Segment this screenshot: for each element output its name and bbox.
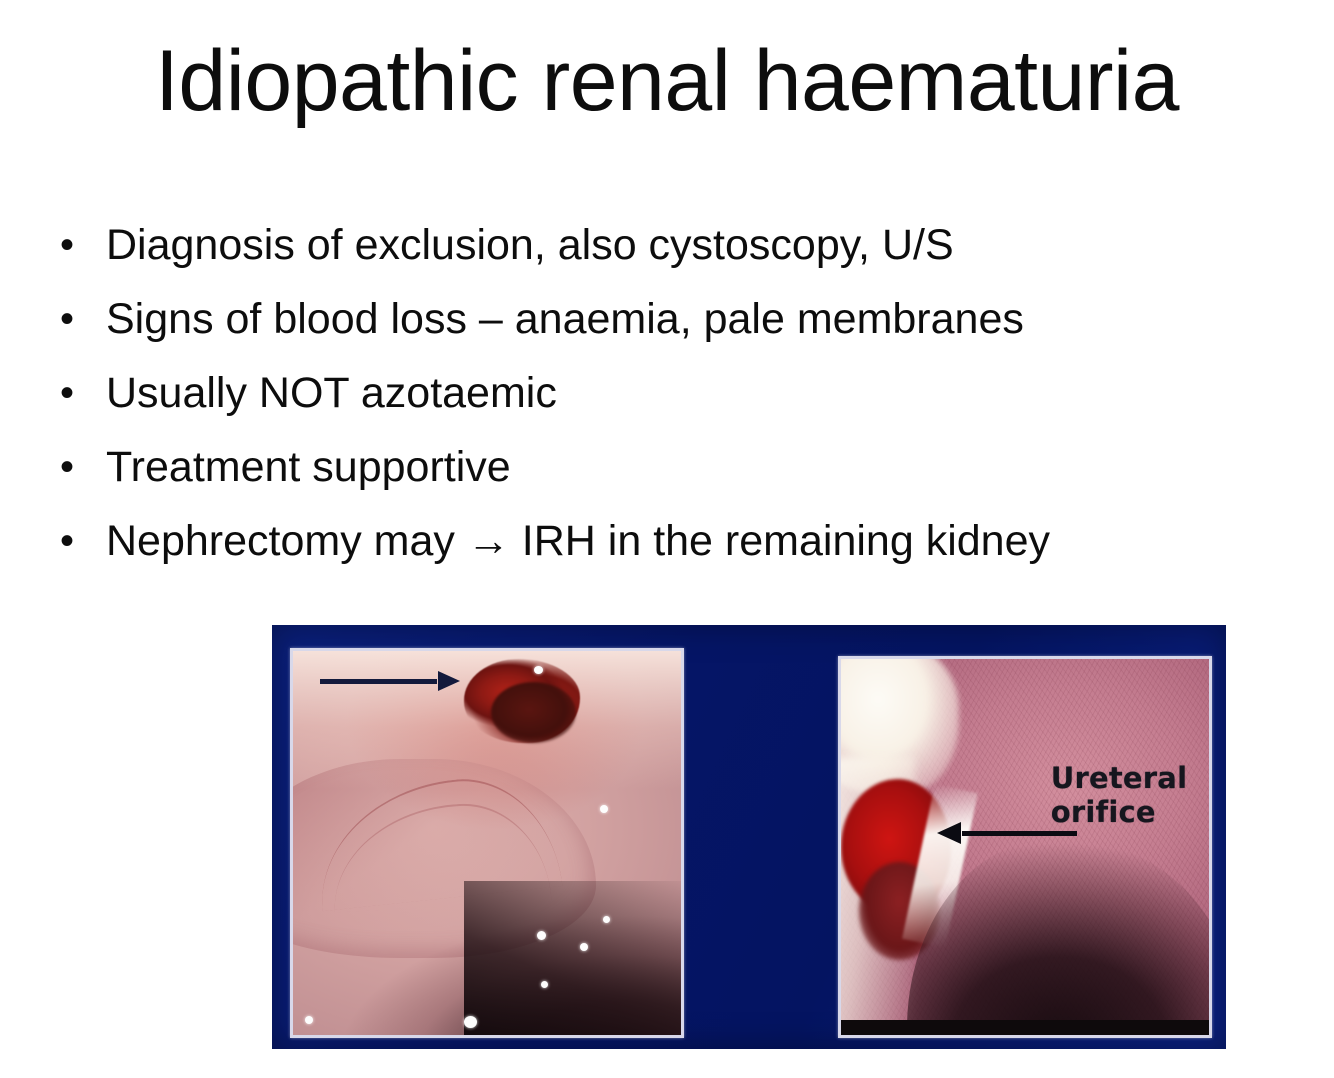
list-item: • Diagnosis of exclusion, also cystoscop… [52,218,1292,292]
cystoscopy-image-panel: Ureteral orifice [272,625,1226,1049]
list-item: • Signs of blood loss – anaemia, pale me… [52,292,1292,366]
bullet-marker-icon: • [52,366,106,420]
slide-canvas: Idiopathic renal haematuria • Diagnosis … [0,0,1334,1078]
list-item-label: Diagnosis of exclusion, also cystoscopy,… [106,218,954,272]
arrow-head [937,822,961,844]
arrow-head [438,671,460,691]
ureteral-orifice-label: Ureteral orifice [1051,761,1187,829]
photo-left-pointer-arrow-icon [320,676,460,686]
arrow-shaft [320,679,437,684]
list-item-label: Nephrectomy may → IRH in the remaining k… [106,514,1050,568]
cystoscopy-photo-left-frame [290,648,684,1038]
list-item: • Nephrectomy may → IRH in the remaining… [52,514,1292,588]
list-item: • Usually NOT azotaemic [52,366,1292,440]
list-item-label: Usually NOT azotaemic [106,366,557,420]
bullet-marker-icon: • [52,514,106,568]
ureteral-orifice-label-line2: orifice [1051,795,1187,829]
photo-left-specular-highlight [305,1016,313,1024]
bullet-marker-icon: • [52,292,106,346]
ureteral-orifice-label-line1: Ureteral [1051,761,1187,795]
bullet-marker-icon: • [52,218,106,272]
photo-left-specular-highlight [534,666,543,674]
photo-right-bottom-bar [841,1020,1209,1035]
photo-left-specular-highlight [464,1016,477,1028]
bullet-list: • Diagnosis of exclusion, also cystoscop… [52,218,1292,588]
photo-right-pointer-arrow-icon [937,828,1077,838]
list-item-label: Signs of blood loss – anaemia, pale memb… [106,292,1024,346]
photo-left-lesion-shadow [491,682,576,743]
photo-left-dark-region [464,881,681,1035]
arrow-shaft [962,831,1077,836]
list-item-label: Treatment supportive [106,440,511,494]
cystoscopy-photo-left [293,651,681,1035]
photo-left-specular-highlight [580,943,588,951]
list-item: • Treatment supportive [52,440,1292,514]
bullet-marker-icon: • [52,440,106,494]
cystoscopy-photo-right-frame: Ureteral orifice [838,656,1212,1038]
cystoscopy-photo-right: Ureteral orifice [841,659,1209,1035]
page-title: Idiopathic renal haematuria [0,36,1334,126]
photo-left-specular-highlight [600,805,608,813]
